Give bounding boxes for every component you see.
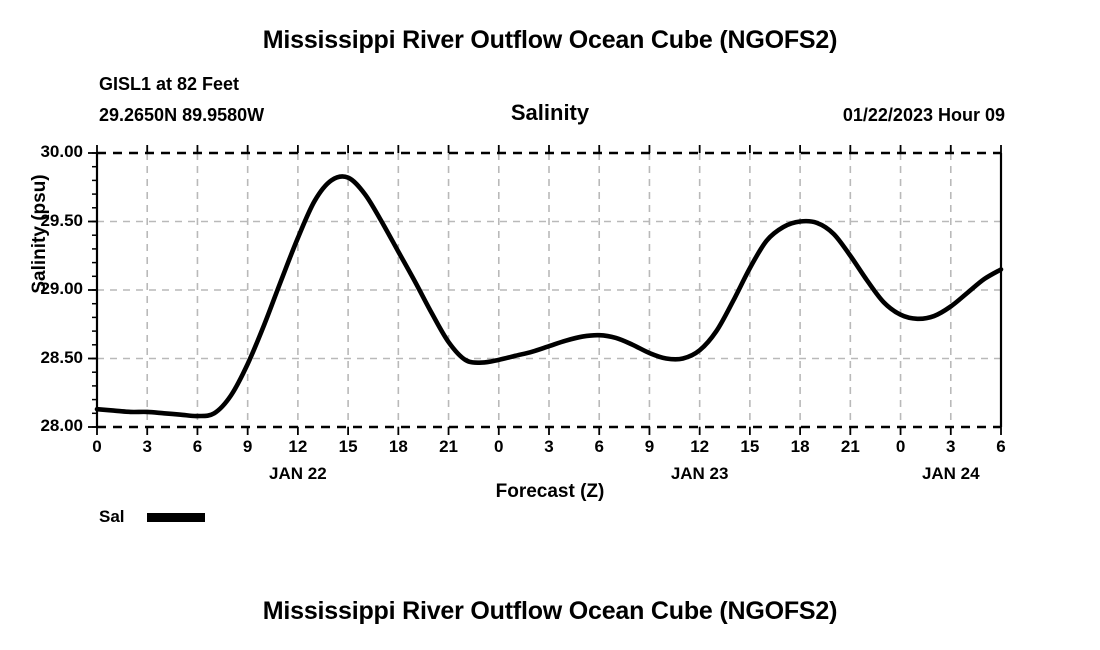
y-tick-label: 28.50 (7, 348, 83, 368)
x-tick-label: 0 (77, 437, 117, 457)
axis-ticks (88, 145, 1001, 435)
page-title: Mississippi River Outflow Ocean Cube (NG… (0, 26, 1100, 55)
salinity-line-chart (0, 0, 1100, 650)
x-tick-label: 12 (680, 437, 720, 457)
grid-lines (97, 153, 1001, 427)
x-tick-label: 21 (429, 437, 469, 457)
station-label: GISL1 at 82 Feet (99, 74, 239, 95)
x-tick-label: 15 (730, 437, 770, 457)
series-lines (97, 176, 1001, 416)
x-tick-label: 9 (629, 437, 669, 457)
chart-page: Mississippi River Outflow Ocean Cube (NG… (0, 0, 1100, 650)
forecast-cycle-label: 01/22/2023 Hour 09 (843, 105, 1005, 126)
x-tick-label: 0 (881, 437, 921, 457)
y-tick-label: 29.00 (7, 279, 83, 299)
x-tick-label: 6 (981, 437, 1021, 457)
footer-title: Mississippi River Outflow Ocean Cube (NG… (0, 597, 1100, 626)
x-tick-label: 18 (780, 437, 820, 457)
x-tick-label: 3 (127, 437, 167, 457)
x-tick-label: 12 (278, 437, 318, 457)
x-tick-label: 3 (529, 437, 569, 457)
x-tick-label: 9 (228, 437, 268, 457)
x-axis-title: Forecast (Z) (0, 481, 1100, 503)
x-tick-label: 6 (177, 437, 217, 457)
x-tick-label: 0 (479, 437, 519, 457)
legend-label-sal: Sal (99, 507, 125, 527)
y-tick-label: 28.00 (7, 416, 83, 436)
y-tick-label: 29.50 (7, 211, 83, 231)
legend-swatch-sal (147, 513, 205, 522)
x-tick-label: 18 (378, 437, 418, 457)
chart-legend: Sal (99, 507, 205, 527)
x-tick-label: 21 (830, 437, 870, 457)
y-tick-label: 30.00 (7, 142, 83, 162)
plot-frame (97, 153, 1001, 427)
x-tick-label: 6 (579, 437, 619, 457)
x-tick-label: 3 (931, 437, 971, 457)
x-tick-label: 15 (328, 437, 368, 457)
